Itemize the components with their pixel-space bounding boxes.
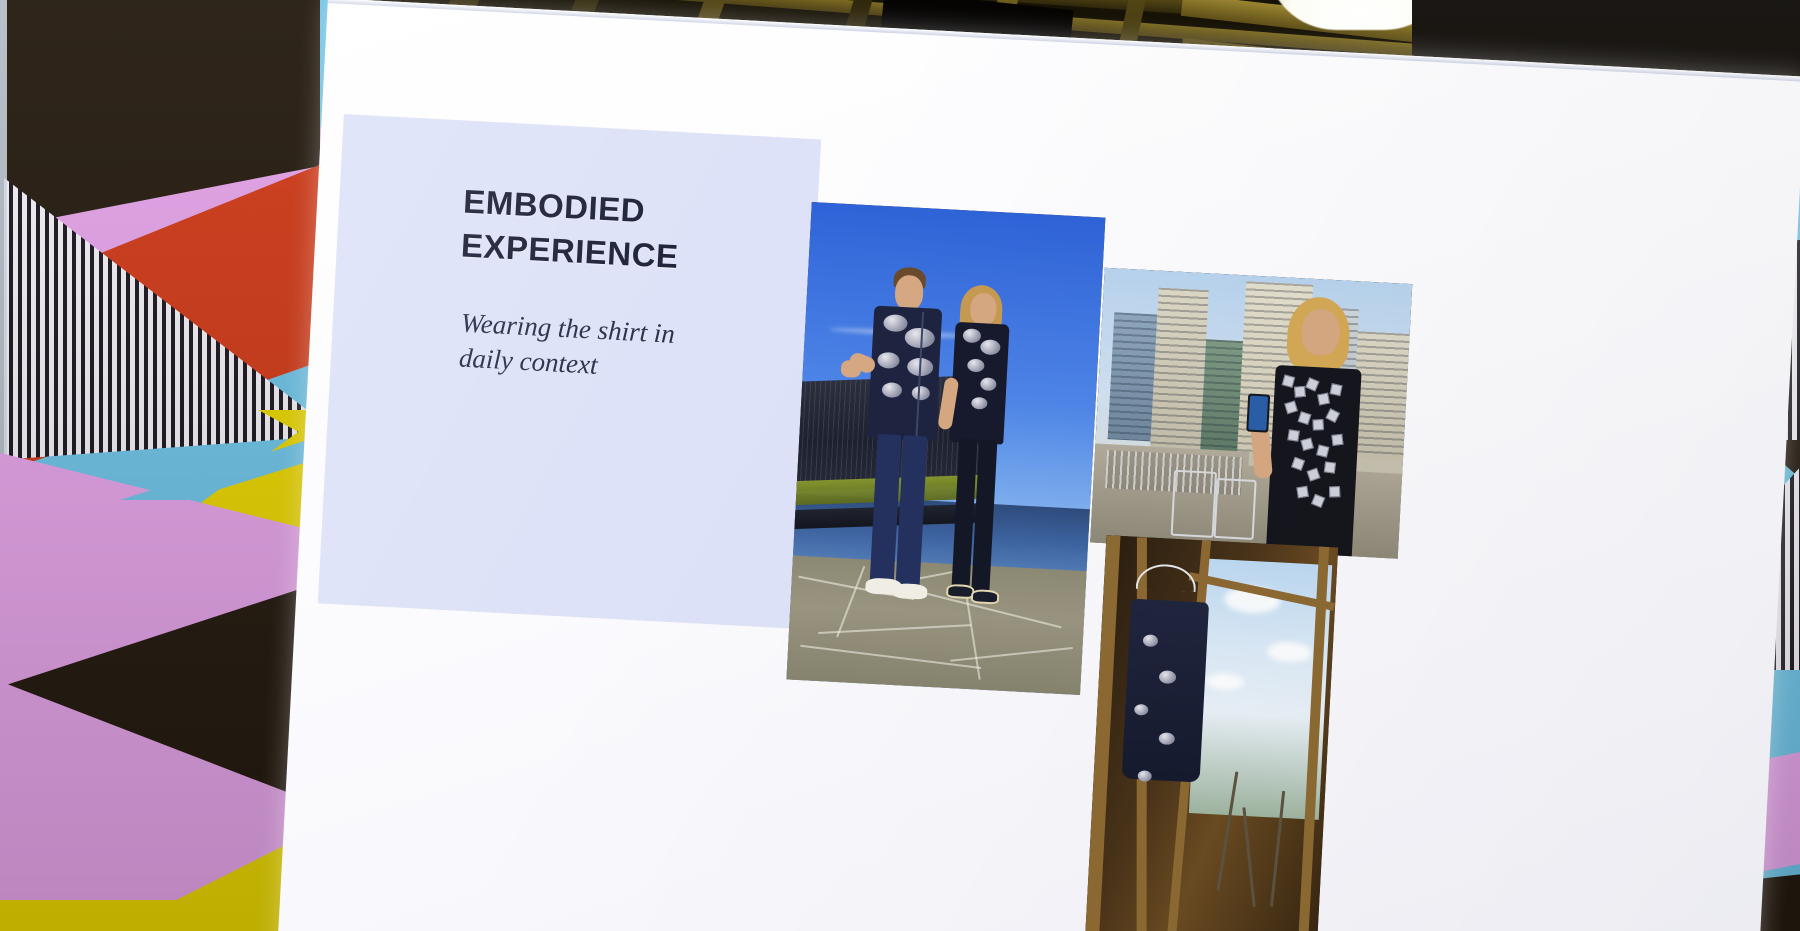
- photo-two-people-waterfront: [786, 202, 1105, 695]
- page-title: EMBODIED EXPERIENCE: [460, 180, 682, 279]
- slide-subtitle: Wearing the shirt in daily context: [458, 306, 676, 386]
- photo-woman-with-phone-rooftop: [1090, 268, 1412, 559]
- photo-shirt-on-hanger-window: [1083, 535, 1338, 931]
- projection-screen: EMBODIED EXPERIENCE Wearing the shirt in…: [277, 0, 1800, 931]
- screenshot-root: EMBODIED EXPERIENCE Wearing the shirt in…: [0, 0, 1800, 931]
